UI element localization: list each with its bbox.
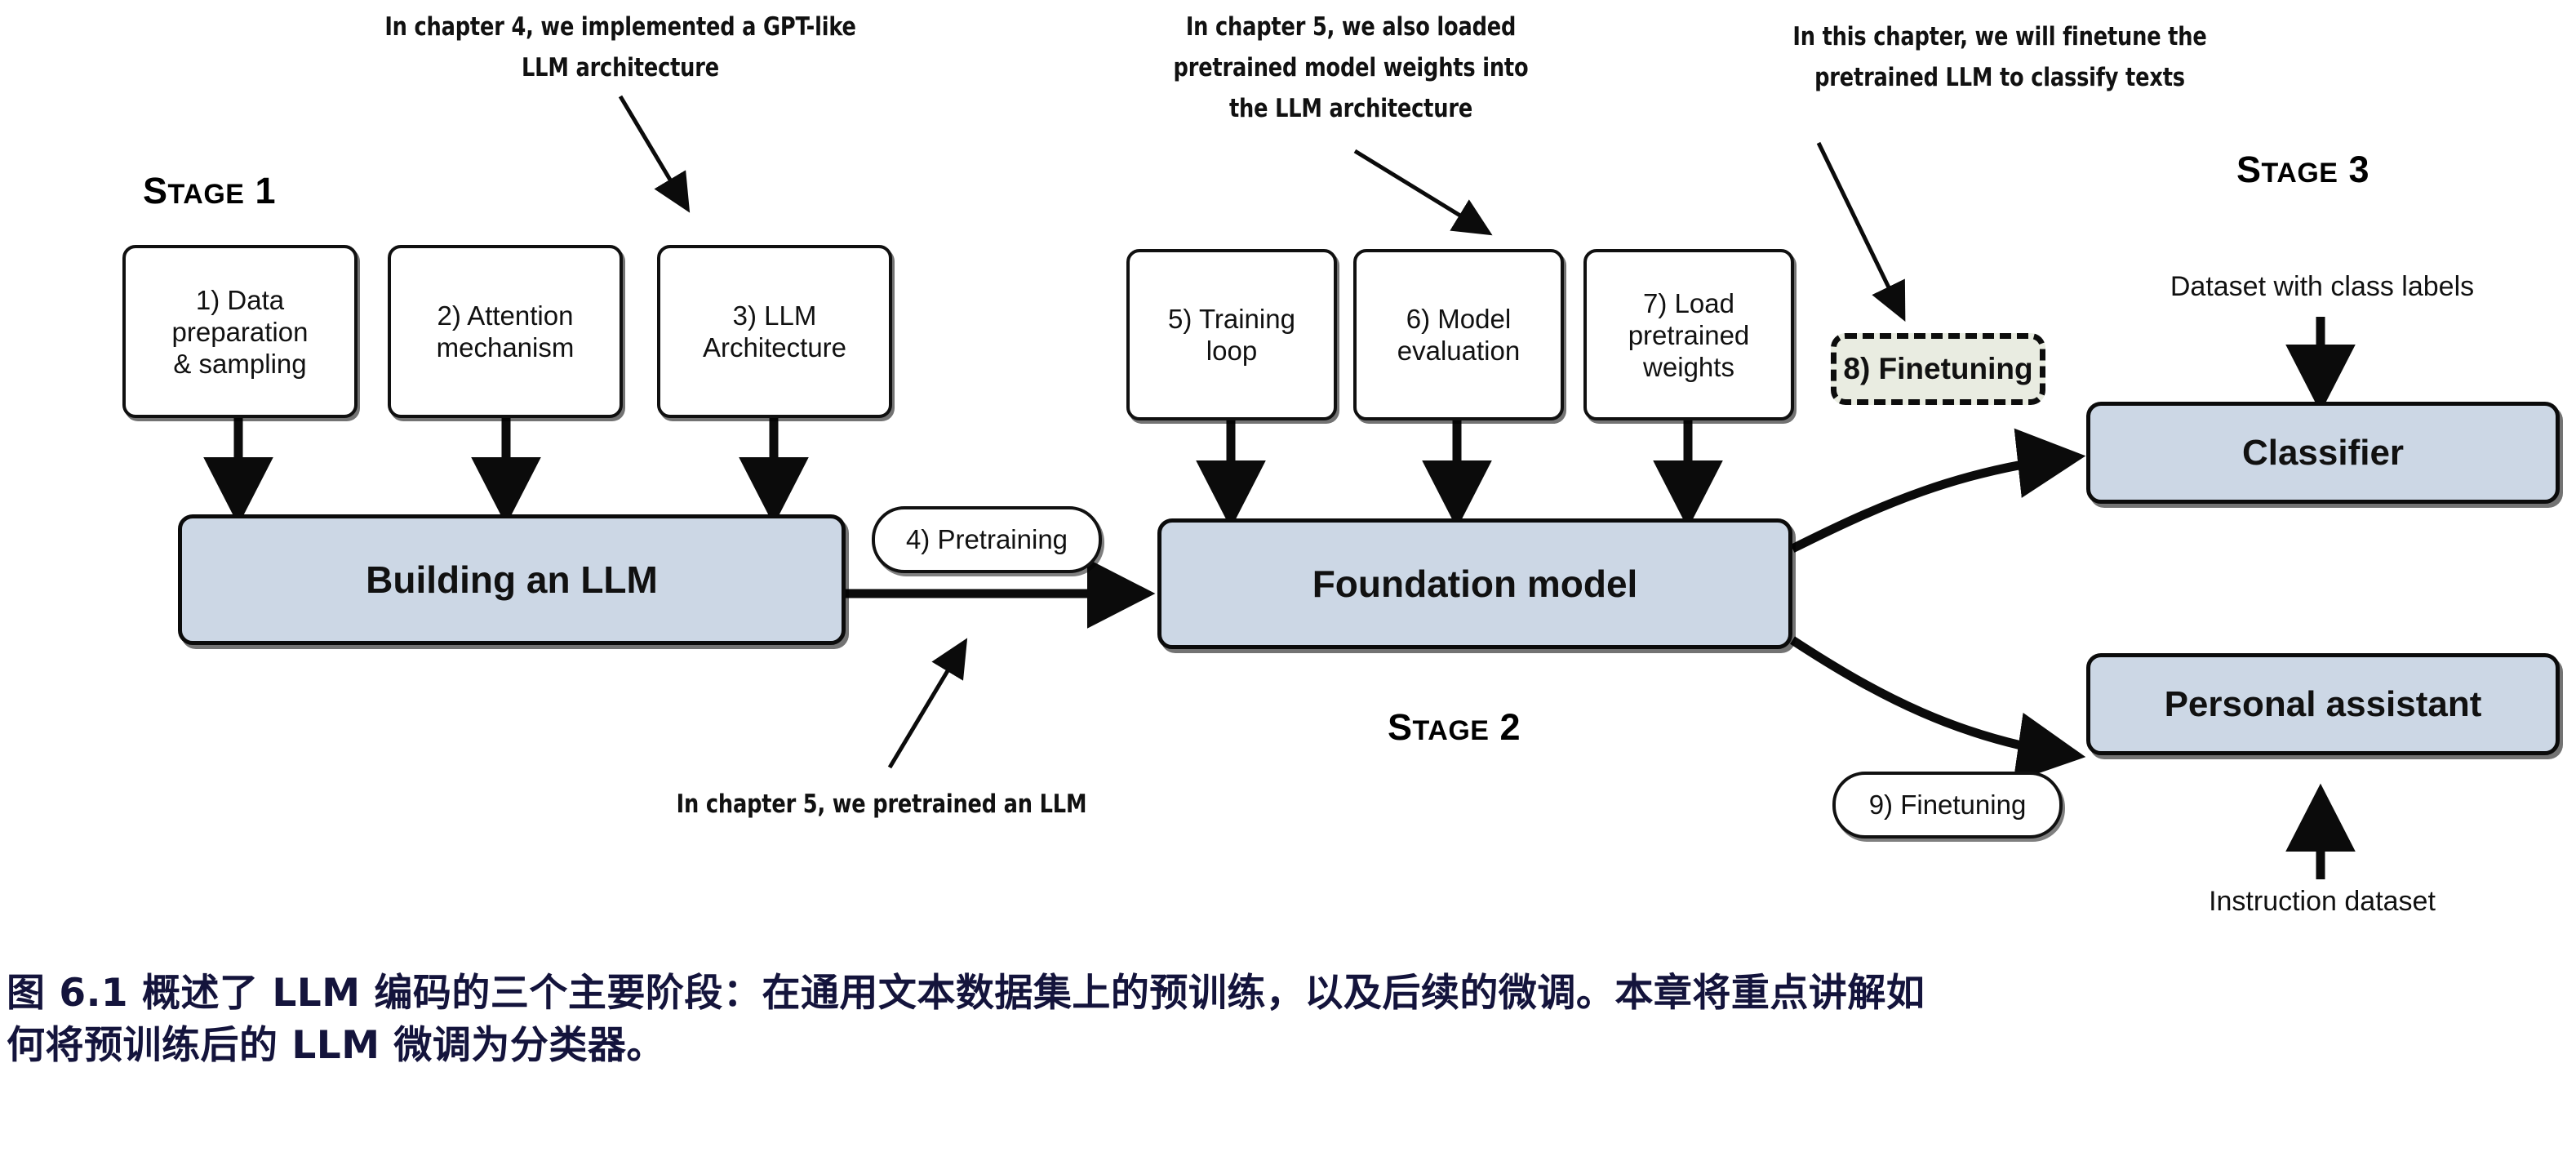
annotation-chapter-5-pretrained: In chapter 5, we pretrained an LLM xyxy=(506,784,1257,825)
stage-3-rest: TAGE xyxy=(2262,158,2338,189)
stage-1-label: STAGE 1 xyxy=(143,170,276,212)
pretraining-pill[interactable]: 4) Pretraining xyxy=(872,506,1102,573)
step-box-3[interactable]: 3) LLM Architecture xyxy=(657,245,892,418)
step-box-6[interactable]: 6) Model evaluation xyxy=(1353,249,1564,420)
leader-arrow-chapter4 xyxy=(620,96,686,206)
figure-caption-line-2: 何将预训练后的 LLM 微调为分类器。 xyxy=(7,1020,2537,1072)
annotation-this-chapter: In this chapter, we will finetune the pr… xyxy=(1685,16,2316,98)
step-box-5[interactable]: 5) Training loop xyxy=(1126,249,1337,420)
stage-1-num xyxy=(244,170,255,211)
stage-1-number: 1 xyxy=(255,170,276,211)
annotation-chapter-5-weights: In chapter 5, we also loaded pretrained … xyxy=(1058,7,1644,129)
arrow-to-classifier xyxy=(1792,457,2073,549)
stage-2-number: 2 xyxy=(1499,706,1521,748)
step-box-7[interactable]: 7) Load pretrained weights xyxy=(1583,249,1794,420)
finetuning-9-pill[interactable]: 9) Finetuning xyxy=(1832,772,2063,838)
finetuning-8-box[interactable]: 8) Finetuning xyxy=(1831,333,2045,405)
leader-arrow-chapter5-weights xyxy=(1355,151,1486,231)
leader-arrow-this-chapter xyxy=(1819,143,1902,314)
foundation-model-box[interactable]: Foundation model xyxy=(1157,518,1792,649)
leader-arrow-chapter5-pretrained xyxy=(890,645,963,767)
figure-diagram: In chapter 4, we implemented a GPT-like … xyxy=(0,0,2576,955)
annotation-chapter-4: In chapter 4, we implemented a GPT-like … xyxy=(297,7,943,88)
figure-caption: 图 6.1 概述了 LLM 编码的三个主要阶段：在通用文本数据集上的预训练，以及… xyxy=(7,967,2537,1072)
stage-2-rest: TAGE xyxy=(1413,715,1490,746)
stage-3-number: 3 xyxy=(2348,149,2369,190)
building-an-llm-box[interactable]: Building an LLM xyxy=(178,514,846,645)
stage-3-first: S xyxy=(2236,149,2262,190)
instruction-dataset-caption: Instruction dataset xyxy=(2090,886,2555,918)
step-box-2[interactable]: 2) Attention mechanism xyxy=(388,245,623,418)
stage-2-label: STAGE 2 xyxy=(1388,706,1521,749)
arrow-to-personal-assistant xyxy=(1792,640,2073,755)
stage-1-first: S xyxy=(143,170,168,211)
personal-assistant-box[interactable]: Personal assistant xyxy=(2086,653,2560,755)
stage-3-label: STAGE 3 xyxy=(2236,149,2369,191)
figure-caption-line-1: 图 6.1 概述了 LLM 编码的三个主要阶段：在通用文本数据集上的预训练，以及… xyxy=(7,967,2537,1020)
classifier-box[interactable]: Classifier xyxy=(2086,402,2560,504)
stage-1-rest: TAGE xyxy=(168,179,245,210)
stage-2-first: S xyxy=(1388,706,1413,748)
dataset-with-class-labels-caption: Dataset with class labels xyxy=(2090,271,2555,303)
step-box-1[interactable]: 1) Data preparation & sampling xyxy=(122,245,358,418)
